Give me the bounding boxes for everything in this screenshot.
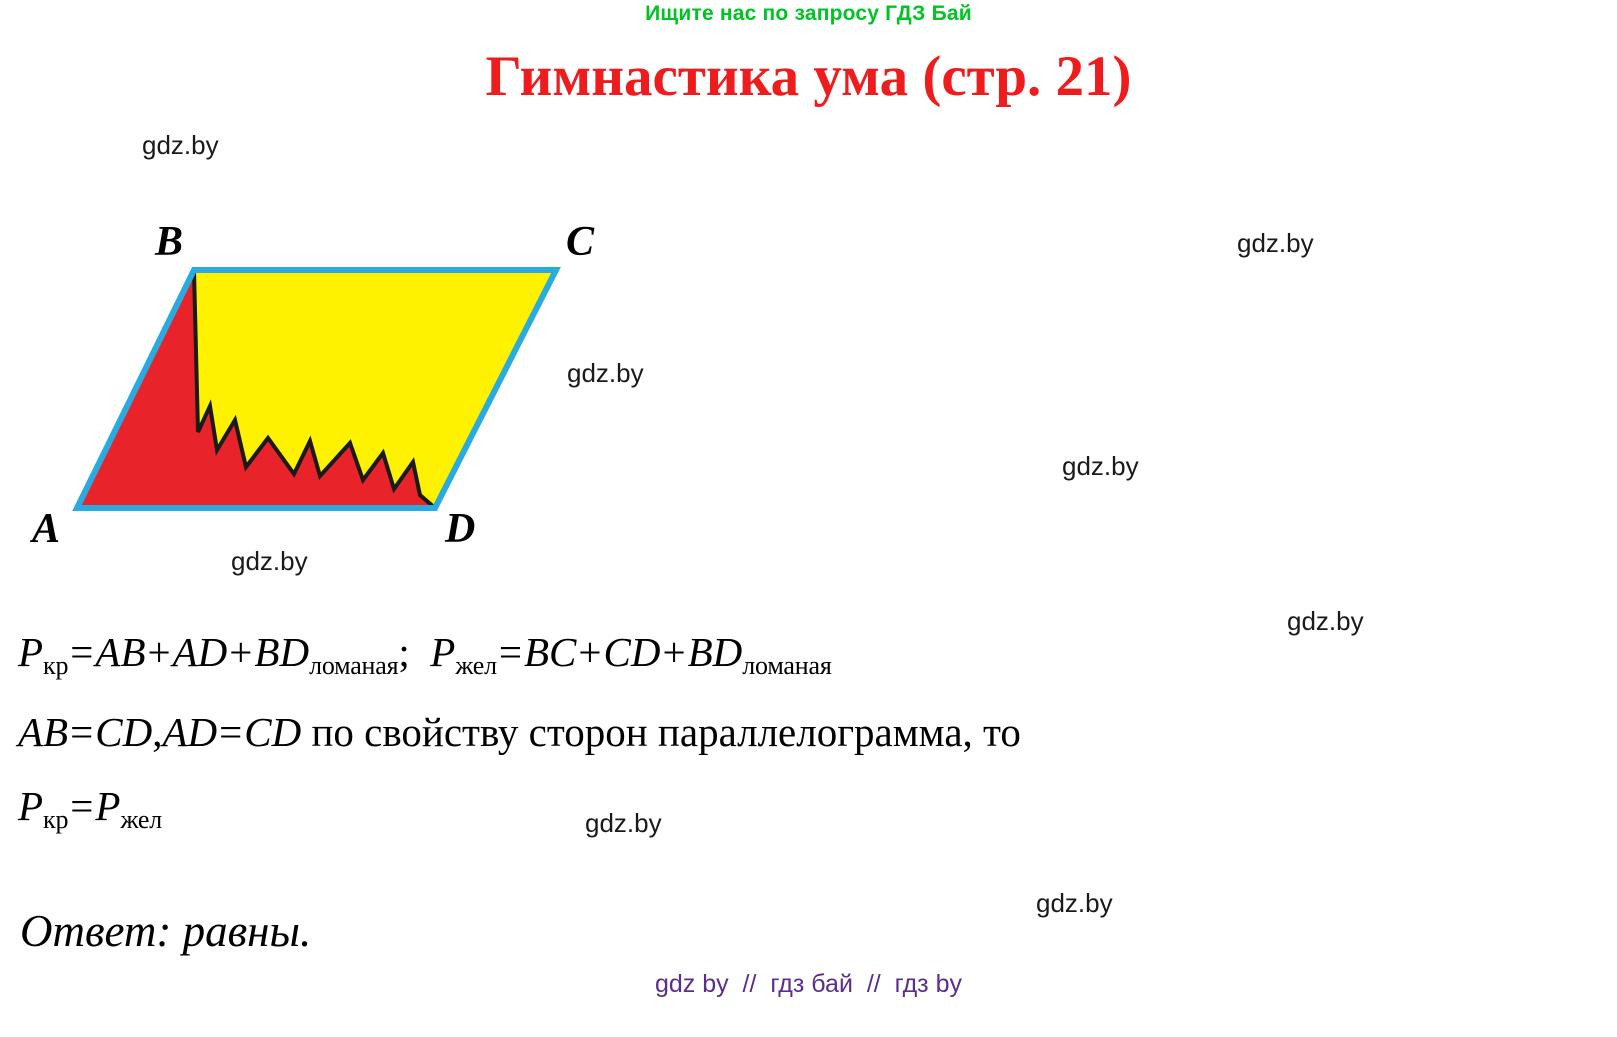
watermark-gdz-by: gdz.by	[1036, 888, 1113, 919]
watermark-gdz-by: gdz.by	[585, 808, 662, 839]
plus-sign-4: +	[661, 629, 688, 675]
p-red-symbol: P	[18, 629, 43, 675]
term-ad: AD	[173, 629, 228, 675]
eq1-left: AB	[18, 709, 68, 755]
eq2-left: AD	[162, 709, 217, 755]
term-bd-yellow: BD	[688, 629, 743, 675]
bd-subscript-red: ломаная	[309, 651, 398, 680]
vertex-label-b: B	[155, 218, 183, 266]
p-yellow-symbol: P	[430, 629, 455, 675]
term-bc: BC	[524, 629, 576, 675]
p-red-subscript-2: кр	[43, 805, 68, 834]
parallelogram-svg	[20, 210, 660, 570]
vertex-label-d: D	[445, 505, 475, 553]
equals-sign-4: =	[217, 709, 244, 755]
watermark-gdz-by: gdz.by	[142, 130, 219, 161]
p-yellow-subscript-2: жел	[120, 805, 162, 834]
equals-sign-2: =	[497, 629, 524, 675]
answer-text: Ответ: равны.	[20, 905, 311, 957]
plus-sign-1: +	[146, 629, 173, 675]
promo-banner-text: Ищите нас по запросу ГДЗ Бай	[0, 2, 1617, 26]
watermark-gdz-by: gdz.by	[1062, 451, 1139, 482]
watermark-gdz-by: gdz.by	[1237, 228, 1314, 259]
watermark-gdz-by: gdz.by	[567, 358, 644, 389]
vertex-label-a: A	[32, 505, 60, 553]
term-cd: CD	[604, 629, 661, 675]
formula-line-sides-property: AB=CD,AD=CD по свойству сторон параллело…	[18, 712, 1021, 753]
equals-sign-3: =	[68, 709, 95, 755]
equals-sign-1: =	[68, 629, 95, 675]
plus-sign-3: +	[576, 629, 603, 675]
page-title: Гимнастика ума (стр. 21)	[0, 44, 1617, 109]
eq2-right: CD	[244, 709, 301, 755]
bd-subscript-yellow: ломаная	[742, 651, 831, 680]
equals-sign-5: =	[68, 783, 95, 829]
plus-sign-2: +	[227, 629, 254, 675]
term-bd-red: BD	[254, 629, 309, 675]
term-ab: AB	[95, 629, 145, 675]
watermark-gdz-by: gdz.by	[231, 546, 308, 577]
p-red-subscript: кр	[43, 651, 68, 680]
p-yellow-symbol-2: P	[95, 783, 120, 829]
formula-line-conclusion: Pкр=Pжел	[18, 786, 162, 833]
footer-links-text: gdz by // гдз бай // гдз by	[0, 970, 1617, 999]
vertex-label-c: C	[566, 218, 594, 266]
p-yellow-subscript: жел	[455, 651, 497, 680]
semicolon-separator: ;	[398, 629, 409, 675]
p-red-symbol-2: P	[18, 783, 43, 829]
comma-separator: ,	[152, 709, 162, 755]
watermark-gdz-by: gdz.by	[1287, 606, 1364, 637]
formula-line-perimeters: Pкр=AB+AD+BDломаная; Pжел=BC+CD+BDломана…	[18, 632, 832, 679]
geometry-figure	[20, 210, 660, 570]
property-text: по свойству сторон параллелограмма, то	[311, 709, 1020, 755]
eq1-right: CD	[95, 709, 152, 755]
